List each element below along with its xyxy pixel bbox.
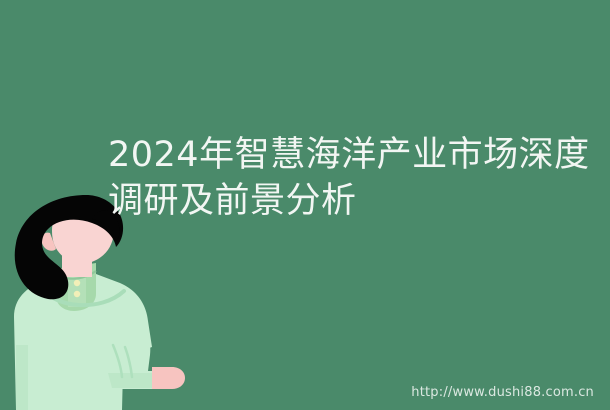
torso-shade-left [16, 345, 28, 410]
sweater-button-lower [74, 291, 80, 297]
title-line-1: 2024年智慧海洋产业市场深度 [108, 132, 528, 178]
page-title: 2024年智慧海洋产业市场深度 调研及前景分析 [108, 132, 528, 224]
person-pointing-illustration [0, 195, 210, 410]
watermark-url: http://www.dushi88.com.cn [411, 385, 594, 401]
sweater-button-upper [74, 280, 80, 286]
hand [152, 367, 185, 389]
title-line-2: 调研及前景分析 [108, 178, 528, 224]
poster-canvas: 2024年智慧海洋产业市场深度 调研及前景分析 http://www.dushi… [0, 0, 610, 410]
